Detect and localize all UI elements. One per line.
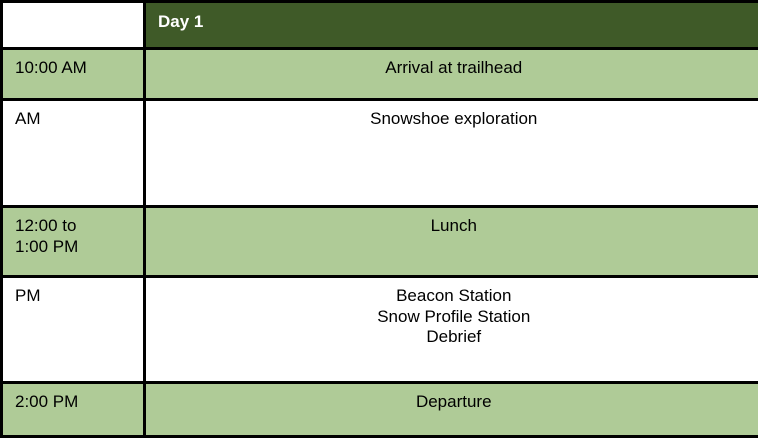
time-label: 10:00 AM	[3, 50, 143, 87]
activity-line: Beacon Station	[158, 286, 750, 307]
activity-line: Snowshoe exploration	[158, 109, 750, 130]
activity-line: Lunch	[158, 216, 750, 237]
activity-line: Departure	[158, 392, 750, 413]
time-label: 12:00 to 1:00 PM	[3, 208, 143, 265]
cell-activity: Lunch	[145, 207, 758, 277]
cell-time: AM	[2, 100, 145, 207]
cell-activity: Beacon Station Snow Profile Station Debr…	[145, 277, 758, 383]
cell-time: 12:00 to 1:00 PM	[2, 207, 145, 277]
activity-label: Arrival at trailhead	[146, 50, 758, 87]
header-cell-day: Day 1	[145, 2, 758, 49]
cell-activity: Departure	[145, 383, 758, 437]
table-row: 12:00 to 1:00 PM Lunch	[2, 207, 758, 277]
table-row: 2:00 PM Departure	[2, 383, 758, 437]
activity-label: Lunch	[146, 208, 758, 245]
cell-activity: Arrival at trailhead	[145, 49, 758, 100]
header-cell-time-blank	[2, 2, 145, 49]
activity-label: Departure	[146, 384, 758, 421]
table-header-row: Day 1	[2, 2, 758, 49]
time-line: 1:00 PM	[15, 237, 133, 258]
cell-time: 2:00 PM	[2, 383, 145, 437]
header-time-label	[3, 3, 143, 19]
activity-line: Snow Profile Station	[158, 307, 750, 328]
table-row: 10:00 AM Arrival at trailhead	[2, 49, 758, 100]
table-row: PM Beacon Station Snow Profile Station D…	[2, 277, 758, 383]
cell-time: 10:00 AM	[2, 49, 145, 100]
activity-line: Debrief	[158, 327, 750, 348]
time-label: 2:00 PM	[3, 384, 143, 421]
time-label: AM	[3, 101, 143, 138]
header-day-label: Day 1	[146, 3, 758, 41]
table-row: AM Snowshoe exploration	[2, 100, 758, 207]
cell-activity: Snowshoe exploration	[145, 100, 758, 207]
activity-line: Arrival at trailhead	[158, 58, 750, 79]
time-label: PM	[3, 278, 143, 315]
cell-time: PM	[2, 277, 145, 383]
activity-label: Snowshoe exploration	[146, 101, 758, 138]
day-schedule-table: Day 1 10:00 AM Arrival at trailhead AM S…	[0, 0, 758, 438]
time-line: 12:00 to	[15, 216, 133, 237]
activity-label: Beacon Station Snow Profile Station Debr…	[146, 278, 758, 356]
